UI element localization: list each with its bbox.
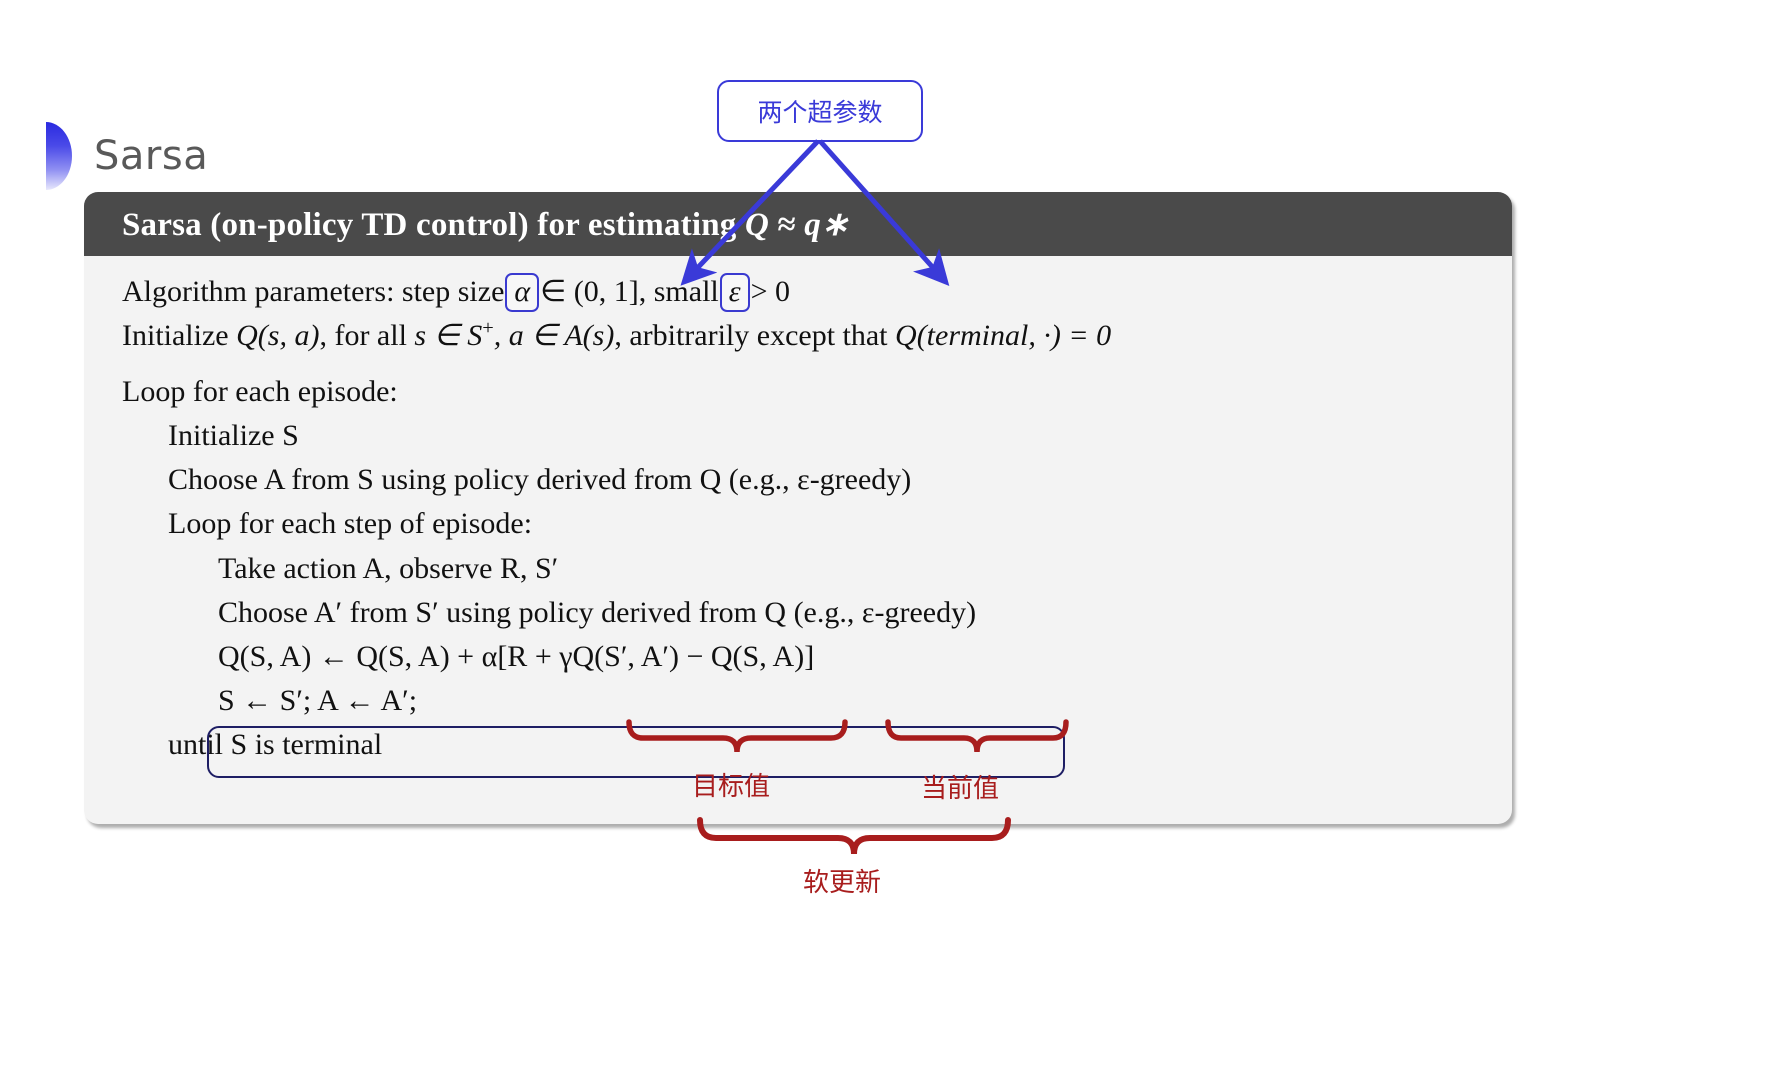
algorithm-line-loop-episode: Loop for each episode: [122, 370, 1512, 414]
init-q-d-sup: + [482, 317, 494, 339]
hyperparameters-callout[interactable]: 两个超参数 [717, 80, 923, 142]
algorithm-title-approx: ≈ [777, 207, 795, 243]
algorithm-line-choose-a-prime: Choose A′ from S′ using policy derived f… [122, 591, 1512, 635]
init-q-f: , arbitrarily except that [614, 319, 887, 352]
brace-soft-update [700, 820, 1008, 854]
algorithm-title-main: Sarsa (on-policy TD control) for estimat… [122, 207, 737, 243]
half-circle-gradient-bullet-icon [46, 122, 72, 190]
params-prefix: Algorithm parameters: step size [122, 275, 504, 308]
params-suffix: > 0 [751, 275, 790, 308]
page-title: Sarsa [94, 133, 208, 179]
current-value-label: 当前值 [921, 768, 999, 805]
hyperparameters-callout-label: 两个超参数 [757, 93, 882, 129]
init-q-b: Q(s, a) [236, 319, 319, 352]
algorithm-title-bar: Sarsa (on-policy TD control) for estimat… [84, 192, 1512, 256]
init-q-d: s ∈ S [414, 319, 482, 352]
alpha-parameter-box[interactable]: α [505, 273, 539, 312]
init-q-a: Initialize [122, 319, 229, 352]
algorithm-line-q-update: Q(S, A) ← Q(S, A) + α[R + γQ(S′, A′) − Q… [122, 635, 1512, 679]
algorithm-panel: Sarsa (on-policy TD control) for estimat… [84, 192, 1512, 824]
algorithm-line-initialize-q: Initialize Q(s, a), for all s ∈ S+, a ∈ … [122, 314, 1512, 358]
slide-heading: Sarsa [46, 122, 208, 190]
init-q-g: Q(terminal, ·) = 0 [895, 319, 1111, 352]
soft-update-label: 软更新 [803, 862, 881, 899]
algorithm-line-choose-a: Choose A from S using policy derived fro… [122, 458, 1512, 502]
algorithm-title-symbol-q: Q [745, 207, 769, 243]
algorithm-title: Sarsa (on-policy TD control) for estimat… [122, 204, 849, 244]
algorithm-body: Algorithm parameters: step sizeα∈ (0, 1]… [84, 256, 1512, 767]
spacer [122, 358, 1512, 370]
epsilon-parameter-box[interactable]: ε [720, 273, 750, 312]
algorithm-line-assign: S ← S′; A ← A′; [122, 679, 1512, 723]
init-q-e: , a ∈ A(s) [494, 319, 615, 352]
params-middle: ∈ (0, 1], small [540, 275, 719, 308]
algorithm-line-until: until S is terminal [122, 723, 1512, 767]
algorithm-line-params: Algorithm parameters: step sizeα∈ (0, 1]… [122, 270, 1512, 314]
algorithm-line-initialize-s: Initialize S [122, 414, 1512, 458]
algorithm-title-target: q∗ [804, 207, 849, 243]
algorithm-line-loop-step: Loop for each step of episode: [122, 502, 1512, 546]
target-value-label: 目标值 [692, 766, 770, 803]
init-q-c: , for all [319, 319, 406, 352]
algorithm-line-take-action: Take action A, observe R, S′ [122, 547, 1512, 591]
